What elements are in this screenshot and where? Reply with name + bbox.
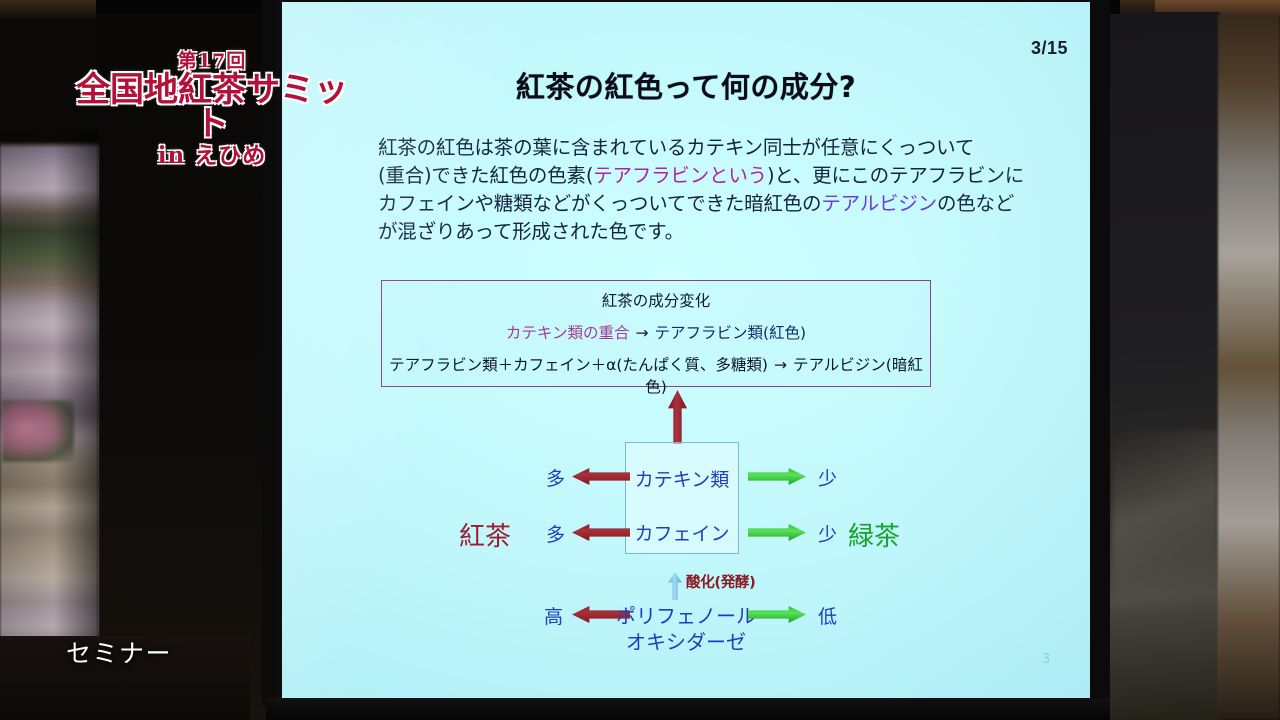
red-left-arrow-icon-caffeine — [572, 524, 630, 541]
center-box-item-caffeine: カフェイン — [626, 519, 738, 546]
green-right-arrow-icon-caffeine — [748, 524, 806, 541]
center-box-item-catechin: カテキン類 — [626, 465, 738, 492]
component-reaction-row-1: カテキン類の重合→テアフラビン類(紅色) — [382, 321, 930, 343]
reaction1-product: テアフラビン類(紅色) — [654, 324, 806, 342]
catechin-right-value: 少 — [818, 464, 837, 491]
quilt-shadow-overlay — [0, 130, 98, 720]
reaction2-reactant: テアフラビン類＋カフェイン＋α(たんぱく質、多糖類) — [389, 356, 768, 374]
body-line-4: が混ざりあって形成された色です。 — [378, 218, 1038, 246]
component-change-box: 紅茶の成分変化 カテキン類の重合→テアフラビン類(紅色) テアフラビン類＋カフェ… — [381, 280, 931, 387]
slide-title: 紅茶の紅色って何の成分? — [282, 64, 1090, 106]
oxidation-label: 酸化(発酵) — [686, 571, 755, 592]
caffeine-left-value: 多 — [546, 520, 565, 547]
slide-page-indicator: 3/15 — [1031, 38, 1068, 59]
right-dark-wall — [1110, 12, 1220, 720]
body-line-3: カフェインや糖類などがくっついてできた暗紅色のテアルビジンの色など — [378, 190, 1038, 218]
component-center-box: カテキン類 カフェイン — [625, 442, 739, 554]
far-right-wall-strip — [1218, 14, 1280, 720]
black-tea-label: 紅茶 — [459, 516, 511, 553]
term-thearubigin: テアルビジン — [821, 192, 937, 215]
body-line-2: (重合)できた紅色の色素(テアフラビンという)と、更にこのテアフラビンに — [378, 162, 1038, 190]
caffeine-right-value: 少 — [818, 520, 837, 547]
reaction1-arrow: → — [629, 324, 654, 342]
blue-up-arrow-icon — [668, 572, 682, 600]
red-left-arrow-icon-catechin — [572, 468, 630, 485]
polyphenol-right-value: 低 — [818, 602, 837, 629]
component-box-title: 紅茶の成分変化 — [382, 289, 930, 311]
right-wall-light-reflection — [1112, 430, 1218, 610]
reaction1-reactant: カテキン類の重合 — [506, 324, 630, 342]
slide-footer-number: 3 — [1042, 652, 1050, 667]
broadcast-caption: セミナー — [66, 634, 172, 670]
left-dark-wall — [96, 10, 286, 720]
term-theaflavin: テアフラビンという — [593, 164, 767, 187]
polyphenol-name-line1: ポリフェノール — [282, 600, 1090, 629]
green-right-arrow-icon-catechin — [748, 468, 806, 485]
screen-bottom-edge — [266, 698, 1110, 720]
component-reaction-row-2: テアフラビン類＋カフェイン＋α(たんぱく質、多糖類)→テアルビジン(暗紅色) — [382, 353, 930, 397]
projected-slide: 3/15 紅茶の紅色って何の成分? 紅茶の紅色は茶の葉に含まれているカテキン同士… — [282, 2, 1090, 702]
red-up-arrow-icon — [668, 390, 687, 444]
reaction2-arrow: → — [768, 356, 793, 374]
slide-body-text: 紅茶の紅色は茶の葉に含まれているカテキン同士が任意にくっついて (重合)できた紅… — [378, 134, 1038, 246]
polyphenol-name-line2: オキシダーゼ — [282, 626, 1090, 655]
body-line-1: 紅茶の紅色は茶の葉に含まれているカテキン同士が任意にくっついて — [378, 134, 1038, 162]
green-tea-label: 緑茶 — [848, 516, 900, 553]
catechin-left-value: 多 — [546, 464, 565, 491]
